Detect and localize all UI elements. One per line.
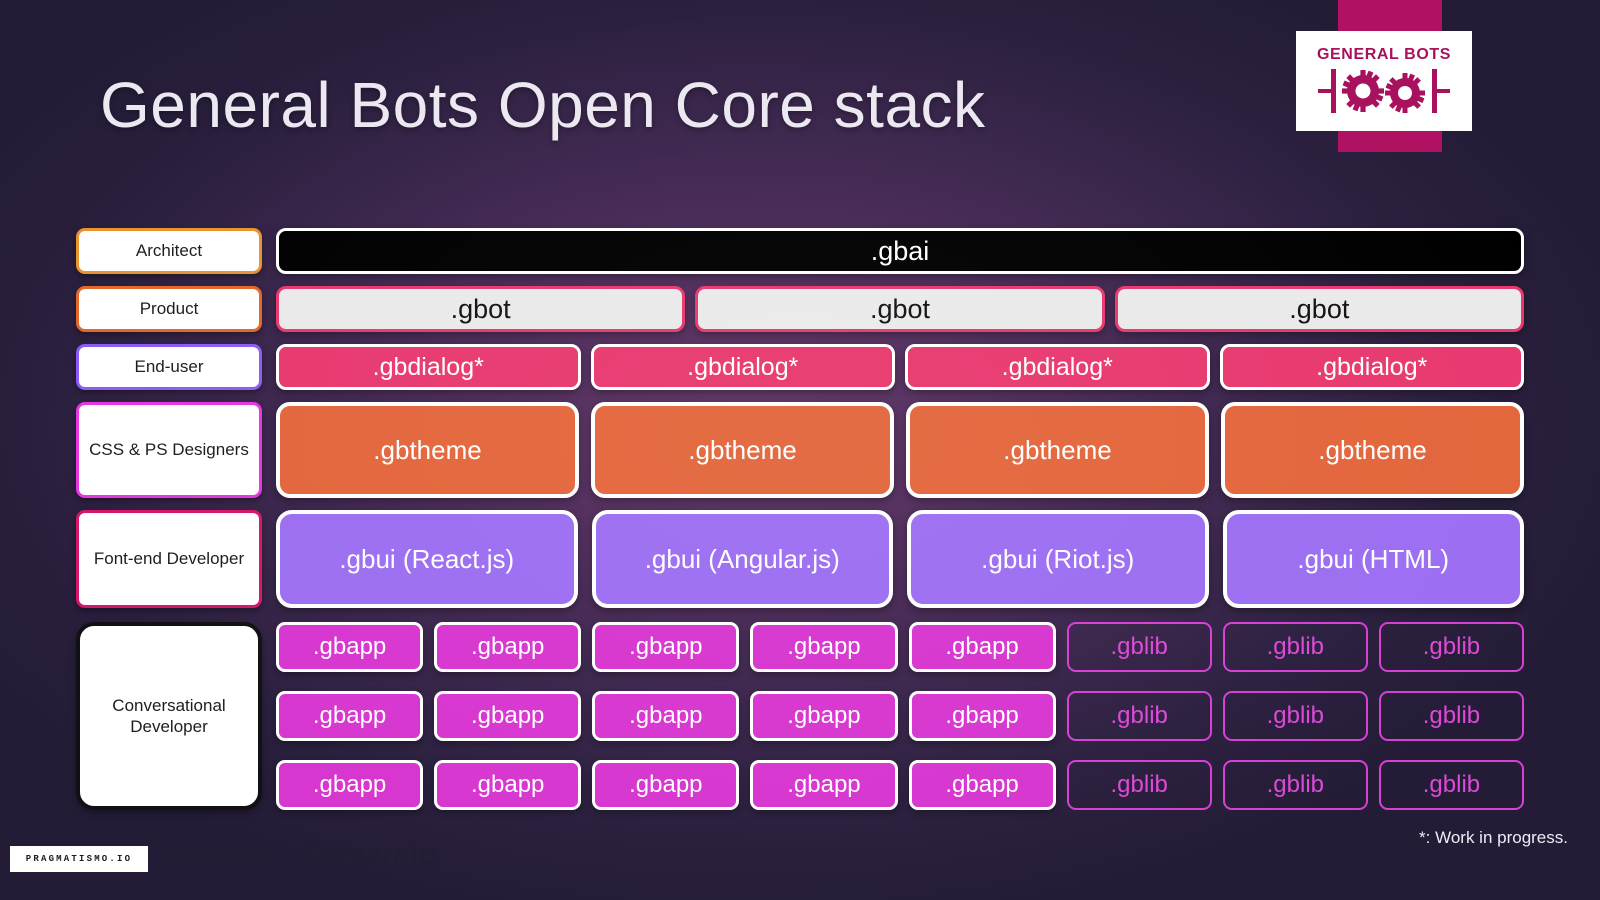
stack-cell-gbapp[interactable]: .gbapp — [276, 691, 423, 741]
stack-row-gbdialog: End-user .gbdialog* .gbdialog* .gbdialog… — [76, 344, 1524, 390]
stack-cell-gbot[interactable]: .gbot — [695, 286, 1104, 332]
gbapp-gblib-grid: .gbapp .gbapp .gbapp .gbapp .gbapp .gbli… — [276, 622, 1524, 810]
stack-cell-gbui-react[interactable]: .gbui (React.js) — [276, 510, 578, 608]
stack-matrix: Architect .gbai Product .gbot .gbot .gbo… — [76, 228, 1524, 810]
role-label-end-user: End-user — [76, 344, 262, 390]
two-gears-icon — [1311, 67, 1457, 115]
role-label-css-ps-designers: CSS & PS Designers — [76, 402, 262, 498]
stack-row-gbapp-gblib: Conversational Developer .gbapp .gbapp .… — [76, 622, 1524, 810]
stack-cell-gbapp[interactable]: .gbapp — [592, 691, 739, 741]
gbapp-gblib-grid-row: .gbapp .gbapp .gbapp .gbapp .gbapp .gbli… — [276, 691, 1524, 741]
stack-cell-gbapp[interactable]: .gbapp — [750, 691, 897, 741]
role-label-conversational-developer: Conversational Developer — [76, 622, 262, 810]
stack-cell-gbtheme[interactable]: .gbtheme — [1221, 402, 1524, 498]
stack-cell-gbapp[interactable]: .gbapp — [750, 760, 897, 810]
stack-cell-gblib[interactable]: .gblib — [1223, 622, 1368, 672]
stack-cell-gbapp[interactable]: .gbapp — [909, 760, 1056, 810]
stack-cell-gblib[interactable]: .gblib — [1223, 691, 1368, 741]
stack-row-gbtheme: CSS & PS Designers .gbtheme .gbtheme .gb… — [76, 402, 1524, 498]
stack-cell-gbapp[interactable]: .gbapp — [750, 622, 897, 672]
stack-cell-gbapp[interactable]: .gbapp — [592, 622, 739, 672]
pragmatismo-wordmark: PRAGMATISMO.IO — [26, 854, 132, 864]
role-label-product: Product — [76, 286, 262, 332]
stack-cell-gbapp[interactable]: .gbapp — [276, 622, 423, 672]
logo-wordmark: GENERAL BOTS — [1317, 47, 1451, 63]
stack-row-cells-gbtheme: .gbtheme .gbtheme .gbtheme .gbtheme — [276, 402, 1524, 498]
stack-cell-gbui-angular[interactable]: .gbui (Angular.js) — [592, 510, 894, 608]
work-in-progress-note: *: Work in progress. — [1419, 828, 1568, 848]
stack-cell-gbtheme[interactable]: .gbtheme — [276, 402, 579, 498]
stack-cell-gbui-html[interactable]: .gbui (HTML) — [1223, 510, 1525, 608]
pragmatismo-logo: PRAGMATISMO.IO — [10, 846, 148, 872]
stack-row-gbui: Font-end Developer .gbui (React.js) .gbu… — [76, 510, 1524, 608]
stack-cell-gbtheme[interactable]: .gbtheme — [906, 402, 1209, 498]
stack-cell-gbdialog[interactable]: .gbdialog* — [905, 344, 1210, 390]
stack-cell-gblib[interactable]: .gblib — [1379, 691, 1524, 741]
stack-cell-gbapp[interactable]: .gbapp — [434, 691, 581, 741]
stack-cell-gbdialog[interactable]: .gbdialog* — [591, 344, 896, 390]
stack-cell-gbtheme[interactable]: .gbtheme — [591, 402, 894, 498]
stack-cell-gbai[interactable]: .gbai — [276, 228, 1524, 274]
stack-cell-gblib[interactable]: .gblib — [1067, 760, 1212, 810]
slide-canvas: General Bots Open Core stack GENERAL BOT… — [0, 0, 1600, 900]
stack-cell-gblib[interactable]: .gblib — [1379, 760, 1524, 810]
stack-cell-gbapp[interactable]: .gbapp — [909, 622, 1056, 672]
stack-cell-gblib[interactable]: .gblib — [1067, 622, 1212, 672]
gbapp-gblib-grid-row: .gbapp .gbapp .gbapp .gbapp .gbapp .gbli… — [276, 622, 1524, 672]
role-label-architect: Architect — [76, 228, 262, 274]
stack-row-gbai: Architect .gbai — [76, 228, 1524, 274]
general-bots-logo: GENERAL BOTS — [1296, 31, 1472, 131]
stack-cell-gbot[interactable]: .gbot — [276, 286, 685, 332]
deck-label: 2018Q4 - Corporate — [162, 838, 436, 872]
stack-cell-gbot[interactable]: .gbot — [1115, 286, 1524, 332]
stack-cell-gblib[interactable]: .gblib — [1379, 622, 1524, 672]
role-label-front-end-developer: Font-end Developer — [76, 510, 262, 608]
stack-cell-gblib[interactable]: .gblib — [1067, 691, 1212, 741]
gbapp-gblib-grid-row: .gbapp .gbapp .gbapp .gbapp .gbapp .gbli… — [276, 760, 1524, 810]
stack-cell-gbapp[interactable]: .gbapp — [434, 622, 581, 672]
stack-row-cells-gbai: .gbai — [276, 228, 1524, 274]
stack-cell-gbapp[interactable]: .gbapp — [434, 760, 581, 810]
stack-row-gbot: Product .gbot .gbot .gbot — [76, 286, 1524, 332]
stack-cell-gbui-riot[interactable]: .gbui (Riot.js) — [907, 510, 1209, 608]
stack-row-cells-gbot: .gbot .gbot .gbot — [276, 286, 1524, 332]
stack-cell-gbapp[interactable]: .gbapp — [276, 760, 423, 810]
stack-row-cells-gbui: .gbui (React.js) .gbui (Angular.js) .gbu… — [276, 510, 1524, 608]
stack-cell-gbapp[interactable]: .gbapp — [909, 691, 1056, 741]
stack-cell-gbdialog[interactable]: .gbdialog* — [276, 344, 581, 390]
stack-cell-gblib[interactable]: .gblib — [1223, 760, 1368, 810]
stack-cell-gbapp[interactable]: .gbapp — [592, 760, 739, 810]
page-title: General Bots Open Core stack — [100, 68, 986, 142]
stack-row-cells-gbdialog: .gbdialog* .gbdialog* .gbdialog* .gbdial… — [276, 344, 1524, 390]
stack-cell-gbdialog[interactable]: .gbdialog* — [1220, 344, 1525, 390]
